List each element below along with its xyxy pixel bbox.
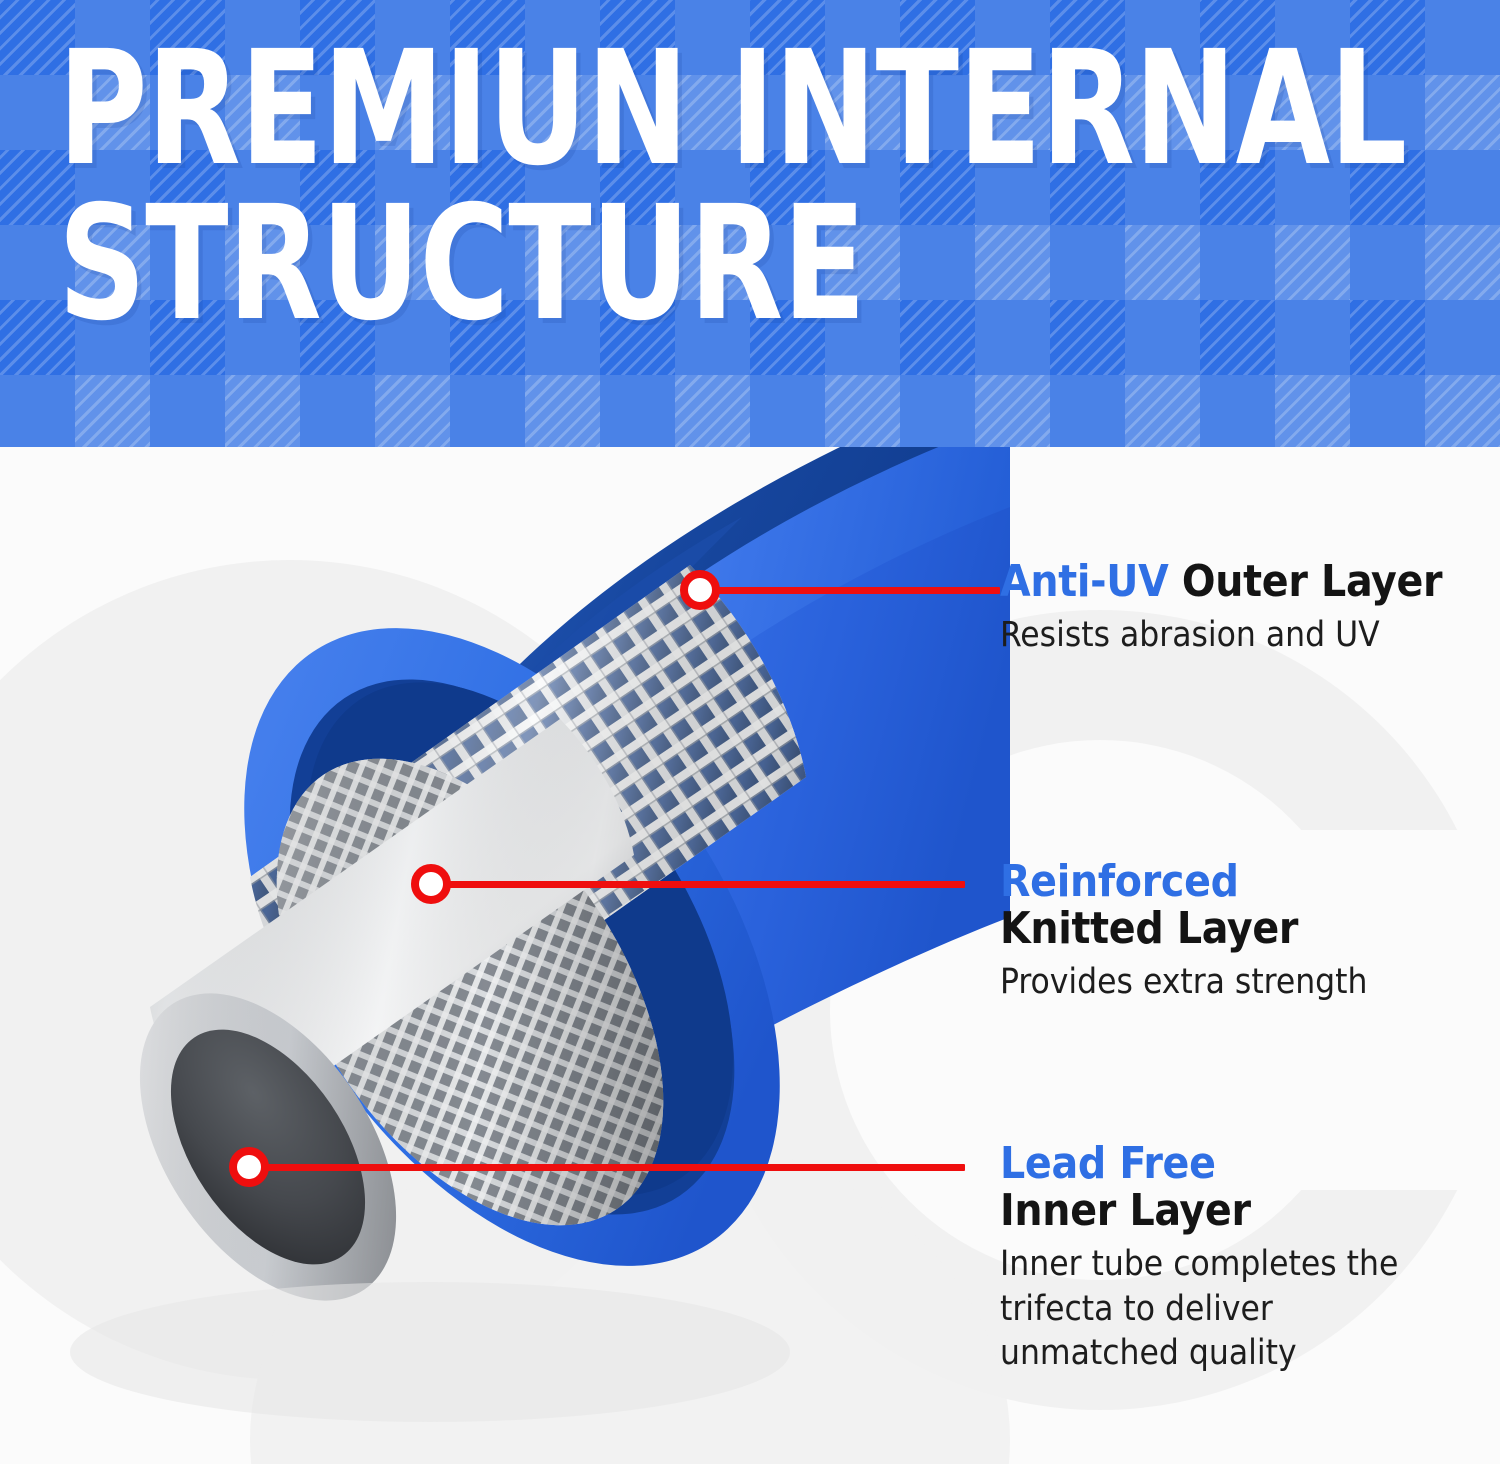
callout-subtitle-inner-layer: Inner tube completes the trifecta to del… xyxy=(1000,1242,1500,1375)
marker-outer-layer[interactable] xyxy=(680,570,720,610)
callout-title-rest: Knitted Layer xyxy=(1000,905,1500,952)
marker-knitted-layer[interactable] xyxy=(411,864,451,904)
callout-subtitle-line: unmatched quality xyxy=(1000,1331,1500,1375)
callout-title-outer-layer: Anti-UV Outer Layer xyxy=(1000,558,1500,605)
callout-title-rest: Outer Layer xyxy=(1182,556,1442,607)
callout-title-highlight: Lead Free xyxy=(1000,1140,1500,1187)
callout-outer-layer: Anti-UV Outer Layer Resists abrasion and… xyxy=(1000,558,1500,658)
callout-title-highlight: Anti-UV xyxy=(1000,556,1182,607)
leader-line-knitted-layer xyxy=(430,881,965,888)
header-banner: PREMIUN INTERNAL STRUCTURE xyxy=(0,0,1500,447)
callout-knitted-layer: Reinforced Knitted Layer Provides extra … xyxy=(1000,858,1500,1005)
hose-cutaway-svg xyxy=(0,447,1010,1464)
leader-line-outer-layer xyxy=(700,587,1000,594)
callout-title-highlight: Reinforced xyxy=(1000,858,1500,905)
callout-subtitle-outer-layer: Resists abrasion and UV xyxy=(1000,613,1500,657)
leader-line-inner-layer xyxy=(248,1164,965,1171)
infographic-page: PREMIUN INTERNAL STRUCTURE xyxy=(0,0,1500,1464)
callout-subtitle-line: trifecta to deliver xyxy=(1000,1287,1500,1331)
callout-subtitle-line: Provides extra strength xyxy=(1000,960,1500,1004)
marker-inner-layer[interactable] xyxy=(229,1147,269,1187)
page-title: PREMIUN INTERNAL STRUCTURE xyxy=(58,32,1262,342)
callout-title-rest: Inner Layer xyxy=(1000,1187,1500,1234)
callout-subtitle-line: Inner tube completes the xyxy=(1000,1242,1500,1286)
callout-title-inner-layer: Lead Free Inner Layer xyxy=(1000,1140,1500,1234)
callout-title-knitted-layer: Reinforced Knitted Layer xyxy=(1000,858,1500,952)
callout-subtitle-line: Resists abrasion and UV xyxy=(1000,613,1500,657)
callout-subtitle-knitted-layer: Provides extra strength xyxy=(1000,960,1500,1004)
page-title-line-2: STRUCTURE xyxy=(58,187,1262,342)
hose-cutaway-illustration xyxy=(0,447,1010,1464)
callout-inner-layer: Lead Free Inner Layer Inner tube complet… xyxy=(1000,1140,1500,1375)
page-title-line-1: PREMIUN INTERNAL xyxy=(58,32,1262,187)
